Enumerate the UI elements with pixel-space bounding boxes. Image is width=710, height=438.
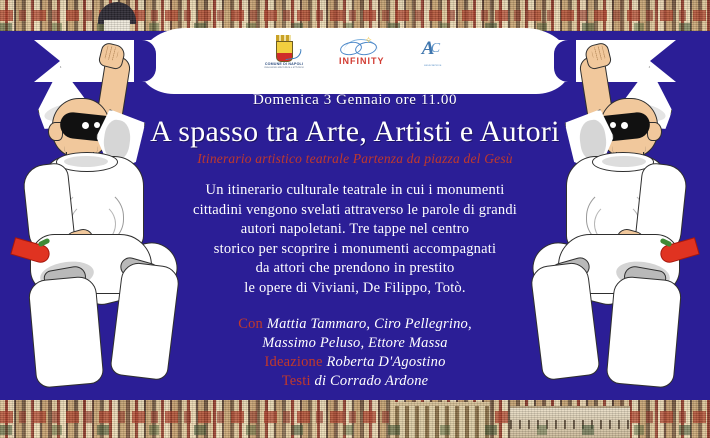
credits-label-testi: Testi [282, 373, 311, 389]
description-line: autori napoletani. Tre tappe nel centro [0, 220, 710, 240]
photo-grain [0, 400, 710, 438]
ac-monogram-icon: A C [420, 38, 446, 64]
credits-cast-names-1: Mattia Tammaro, Ciro Pellegrino, [267, 316, 472, 332]
page-title: A spasso tra Arte, Artisti e Autori [0, 115, 710, 149]
logo-comune-di-napoli[interactable]: COMUNE DI NAPOLI Assessorato alla Cultur… [264, 35, 304, 70]
credits-cast-names-2: Massimo Peluso, Ettore Massa [262, 335, 448, 351]
credits-block: Con Mattia Tammaro, Ciro Pellegrino, Mas… [0, 315, 710, 391]
credits-texts-author: di Corrado Ardone [315, 373, 429, 389]
description-line: Un itinerario culturale teatrale in cui … [0, 181, 710, 201]
crowned-shield-icon [274, 35, 293, 61]
logo-comune-title: COMUNE DI NAPOLI [265, 62, 303, 66]
credits-cast-line-2: Massimo Peluso, Ettore Massa [0, 334, 710, 353]
description-line: storico per scoprire i monumenti accompa… [0, 240, 710, 260]
event-date: Domenica 3 Gennaio ore 11.00 [0, 92, 710, 109]
credits-concept-line: Ideazione Roberta D'Agostino [0, 353, 710, 372]
logo-ac[interactable]: A C associazione [420, 38, 446, 67]
star-icon: ✧ [365, 36, 373, 45]
infinity-symbol-icon: ✧ [338, 39, 386, 55]
logo-ac-subtitle: associazione [424, 64, 441, 67]
credits-label-con: Con [238, 316, 263, 332]
credits-texts-line: Testi di Corrado Ardone [0, 372, 710, 391]
poster-text-block: Domenica 3 Gennaio ore 11.00 A spasso tr… [0, 92, 710, 391]
description-line: cittadini vengono svelati attraverso le … [0, 201, 710, 221]
logo-comune-subtitle: Assessorato alla Cultura e al Turismo [264, 66, 304, 69]
description-line: da attori che prendono in prestito [0, 259, 710, 279]
event-subtitle: Itinerario artistico teatrale Partenza d… [0, 151, 710, 167]
event-description: Un itinerario culturale teatrale in cui … [0, 181, 710, 298]
description-line: le opere di Viviani, De Filippo, Totò. [0, 279, 710, 299]
ac-letter-c: C [431, 42, 440, 56]
swoosh-icon [285, 49, 303, 60]
bottom-cityscape-border [0, 400, 710, 438]
logo-infinity-title: INFINITY [339, 56, 385, 66]
credits-cast-line-1: Con Mattia Tammaro, Ciro Pellegrino, [0, 315, 710, 334]
event-poster: COMUNE DI NAPOLI Assessorato alla Cultur… [0, 0, 710, 438]
logo-infinity[interactable]: ✧ INFINITY [338, 39, 386, 66]
credits-label-ideazione: Ideazione [264, 354, 322, 370]
credits-concept-name: Roberta D'Agostino [326, 354, 445, 370]
